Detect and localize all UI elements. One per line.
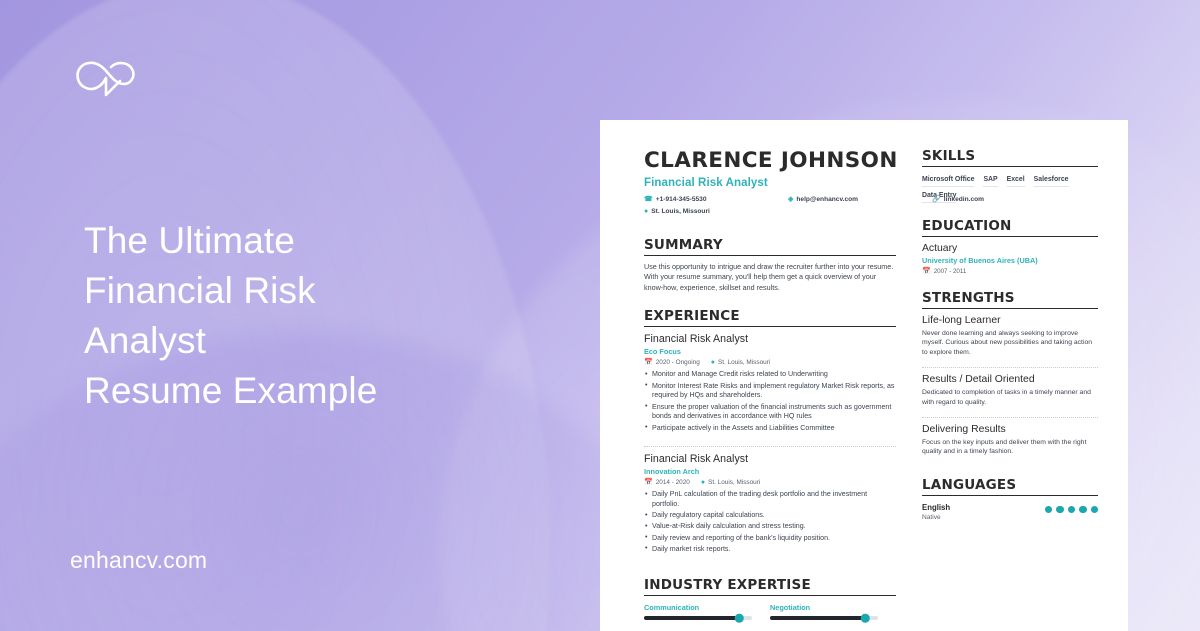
expertise-item: Negotiation <box>770 603 878 620</box>
strength-description: Focus on the key inputs and deliver them… <box>922 438 1098 457</box>
expertise-slider[interactable] <box>644 616 752 620</box>
promo-title-line: Analyst <box>84 316 554 366</box>
candidate-role: Financial Risk Analyst <box>644 177 896 189</box>
resume-side-column: SKILLS Microsoft Office SAP Excel Salesf… <box>922 148 1098 631</box>
language-level: Native <box>922 514 950 521</box>
job-dates-text: 2020 - Ongoing <box>656 359 700 366</box>
expertise-label: Negotiation <box>770 603 878 612</box>
job-bullets: Monitor and Manage Credit risks related … <box>644 370 896 433</box>
link-icon: 🔗 <box>932 196 941 203</box>
expertise-sliders: Communication Negotiation <box>644 596 896 620</box>
job-bullet: Daily review and reporting of the bank's… <box>644 534 896 544</box>
education-dates-text: 2007 - 2011 <box>934 268 967 275</box>
expertise-label: Communication <box>644 603 752 612</box>
job-bullets: Daily PnL calculation of the trading des… <box>644 490 896 555</box>
contact-email-text: help@enhancv.com <box>796 196 858 203</box>
resume-preview-card[interactable]: CLARENCE JOHNSON Financial Risk Analyst … <box>600 120 1128 631</box>
calendar-icon: 📅 <box>922 268 931 275</box>
job-location: ● St. Louis, Missouri <box>701 479 760 486</box>
job-bullet: Value-at-Risk daily calculation and stre… <box>644 522 896 532</box>
job-dates: 📅 2020 - Ongoing <box>644 359 700 366</box>
proficiency-dot <box>1091 506 1099 514</box>
location-pin-icon: ● <box>711 359 715 366</box>
contact-phone[interactable]: ☎ +1-914-345-5530 <box>644 196 707 203</box>
job-company: Eco Focus <box>644 347 896 356</box>
job-dates: 📅 2014 - 2020 <box>644 479 690 486</box>
globe-icon: ◈ <box>788 196 793 203</box>
promo-title-line: The Ultimate <box>84 216 554 266</box>
strength-item: Life-long Learner Never done learning an… <box>922 315 1098 362</box>
job-location-text: St. Louis, Missouri <box>718 359 770 366</box>
section-title-industry-expertise: INDUSTRY EXPERTISE <box>644 577 896 596</box>
proficiency-dot <box>1056 506 1064 514</box>
job-bullet: Daily PnL calculation of the trading des… <box>644 490 896 510</box>
resume-header: CLARENCE JOHNSON Financial Risk Analyst … <box>644 148 896 222</box>
strength-item: Results / Detail Oriented Dedicated to c… <box>922 367 1098 412</box>
job-meta: 📅 2014 - 2020 ● St. Louis, Missouri <box>644 479 896 486</box>
language-info: English Native <box>922 503 950 521</box>
education-degree: Actuary <box>922 243 1098 254</box>
skill-tag: Salesforce <box>1034 176 1069 187</box>
website-link[interactable]: enhancv.com <box>70 547 207 574</box>
slider-fill <box>644 616 739 620</box>
slider-knob[interactable] <box>861 614 870 623</box>
education-item: Actuary University of Buenos Aires (UBA)… <box>922 237 1098 275</box>
calendar-icon: 📅 <box>644 479 653 486</box>
strength-title: Delivering Results <box>922 424 1098 435</box>
job-dates-text: 2014 - 2020 <box>656 479 690 486</box>
job-location: ● St. Louis, Missouri <box>711 359 770 366</box>
section-title-strengths: STRENGTHS <box>922 290 1098 309</box>
section-title-skills: SKILLS <box>922 148 1098 167</box>
language-item: English Native <box>922 496 1098 521</box>
promo-title-line: Financial Risk <box>84 266 554 316</box>
language-proficiency-dots <box>1045 503 1099 514</box>
strength-description: Dedicated to completion of tasks in a ti… <box>922 388 1098 407</box>
job-title: Financial Risk Analyst <box>644 453 896 465</box>
job-meta: 📅 2020 - Ongoing ● St. Louis, Missouri <box>644 359 896 366</box>
skill-tag: Microsoft Office <box>922 176 974 187</box>
section-strengths: STRENGTHS Life-long Learner Never done l… <box>922 290 1098 462</box>
strength-description: Never done learning and always seeking t… <box>922 329 1098 357</box>
section-title-languages: LANGUAGES <box>922 477 1098 496</box>
job-location-text: St. Louis, Missouri <box>708 479 760 486</box>
contact-phone-text: +1-914-345-5530 <box>656 196 707 203</box>
proficiency-dot <box>1068 506 1076 514</box>
section-summary: SUMMARY Use this opportunity to intrigue… <box>644 237 896 293</box>
expertise-slider[interactable] <box>770 616 878 620</box>
candidate-name: CLARENCE JOHNSON <box>644 148 896 173</box>
promo-title: The Ultimate Financial Risk Analyst Resu… <box>84 216 554 416</box>
contact-location-text: St. Louis, Missouri <box>651 208 710 215</box>
slider-knob[interactable] <box>735 614 744 623</box>
contact-linkedin[interactable]: 🔗 linkedin.com <box>932 196 984 203</box>
calendar-icon: 📅 <box>644 359 653 366</box>
job-bullet: Daily market risk reports. <box>644 545 896 555</box>
education-dates: 📅 2007 - 2011 <box>922 268 1098 275</box>
summary-text: Use this opportunity to intrigue and dra… <box>644 262 896 293</box>
section-title-experience: EXPERIENCE <box>644 308 896 327</box>
section-title-summary: SUMMARY <box>644 237 896 256</box>
proficiency-dot <box>1079 506 1087 514</box>
promo-panel: The Ultimate Financial Risk Analyst Resu… <box>0 0 600 631</box>
promo-banner: The Ultimate Financial Risk Analyst Resu… <box>0 0 1200 631</box>
contact-location: ● St. Louis, Missouri <box>644 208 710 215</box>
contact-linkedin-text: linkedin.com <box>944 196 984 203</box>
location-pin-icon: ● <box>644 208 648 215</box>
enhancv-infinity-logo-icon[interactable] <box>70 58 142 100</box>
resume-main-column: CLARENCE JOHNSON Financial Risk Analyst … <box>644 148 896 631</box>
contact-info: ☎ +1-914-345-5530 ● St. Louis, Missouri … <box>644 196 896 222</box>
education-school: University of Buenos Aires (UBA) <box>922 256 1098 265</box>
job-bullet: Ensure the proper valuation of the finan… <box>644 403 896 423</box>
job-title: Financial Risk Analyst <box>644 333 896 345</box>
location-pin-icon: ● <box>701 479 705 486</box>
strength-title: Results / Detail Oriented <box>922 374 1098 385</box>
skill-tag: SAP <box>983 176 997 187</box>
section-title-education: EDUCATION <box>922 218 1098 237</box>
job-bullet: Participate actively in the Assets and L… <box>644 424 896 434</box>
section-experience: EXPERIENCE Financial Risk Analyst Eco Fo… <box>644 308 896 562</box>
strength-title: Life-long Learner <box>922 315 1098 326</box>
experience-item: Financial Risk Analyst Eco Focus 📅 2020 … <box>644 333 896 441</box>
section-languages: LANGUAGES English Native <box>922 477 1098 521</box>
language-name: English <box>922 503 950 512</box>
contact-email[interactable]: ◈ help@enhancv.com <box>788 196 858 203</box>
job-bullet: Monitor and Manage Credit risks related … <box>644 370 896 380</box>
expertise-item: Communication <box>644 603 752 620</box>
job-company: Innovation Arch <box>644 467 896 476</box>
skill-tag: Excel <box>1007 176 1025 187</box>
phone-icon: ☎ <box>644 196 653 203</box>
strength-item: Delivering Results Focus on the key inpu… <box>922 417 1098 462</box>
job-bullet: Monitor Interest Rate Risks and implemen… <box>644 382 896 402</box>
experience-item: Financial Risk Analyst Innovation Arch 📅… <box>644 446 896 562</box>
section-skills: SKILLS Microsoft Office SAP Excel Salesf… <box>922 148 1098 203</box>
section-industry-expertise: INDUSTRY EXPERTISE Communication Negotia… <box>644 577 896 620</box>
slider-fill <box>770 616 865 620</box>
proficiency-dot <box>1045 506 1053 514</box>
promo-title-line: Resume Example <box>84 366 554 416</box>
job-bullet: Daily regulatory capital calculations. <box>644 511 896 521</box>
section-education: EDUCATION Actuary University of Buenos A… <box>922 218 1098 275</box>
